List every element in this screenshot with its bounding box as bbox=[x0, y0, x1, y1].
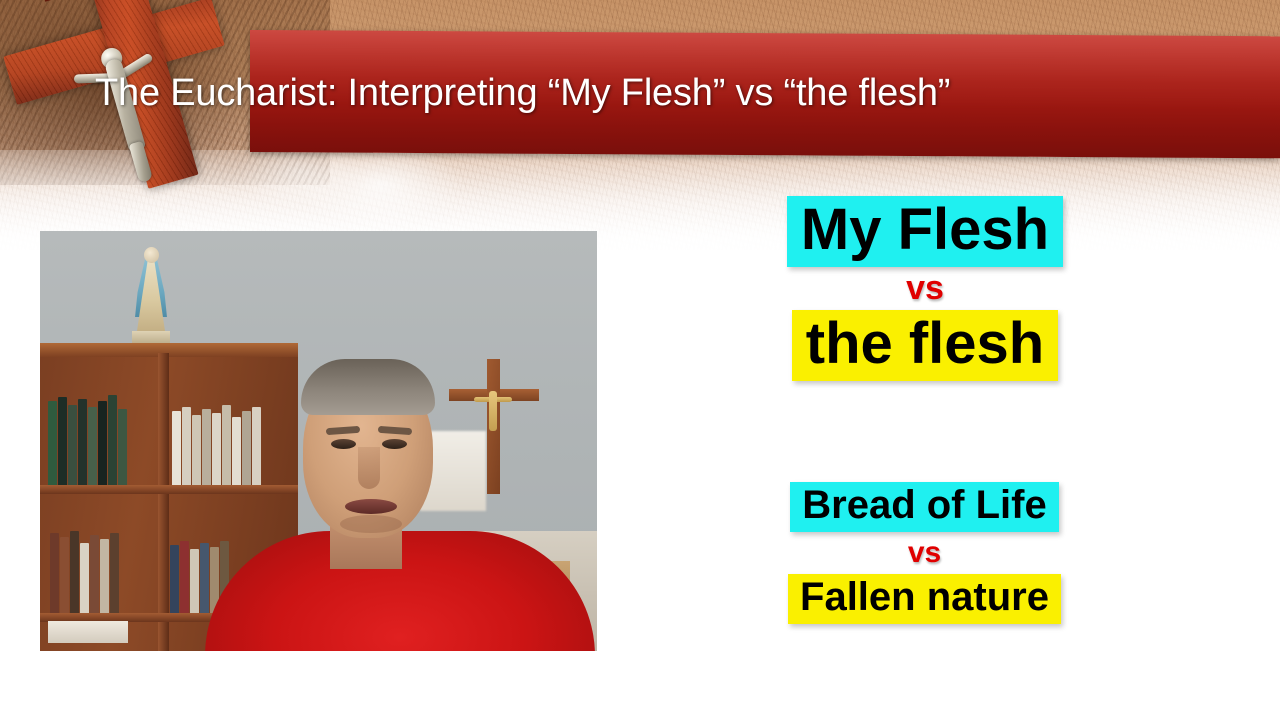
comparison-group-2: Bread of Life vs Fallen nature bbox=[762, 482, 1087, 624]
comparison-2-left-term: Bread of Life bbox=[790, 482, 1058, 532]
speaker-nose bbox=[358, 447, 380, 489]
shelf-papers bbox=[48, 621, 128, 643]
comparison-group-1: My Flesh vs the flesh bbox=[770, 196, 1080, 381]
speaker-eye-right bbox=[382, 439, 407, 449]
book-row-lower-left bbox=[50, 529, 119, 613]
page-title: The Eucharist: Interpreting “My Flesh” v… bbox=[95, 74, 1195, 112]
book-row-upper-right bbox=[172, 405, 261, 485]
speaker-video-panel[interactable] bbox=[40, 231, 597, 651]
bookcase-shelf-mid bbox=[40, 485, 298, 494]
comparison-2-separator: vs bbox=[762, 538, 1087, 568]
book-row-upper-left bbox=[48, 393, 127, 485]
speaker-mouth bbox=[345, 499, 397, 514]
comparison-1-right-term: the flesh bbox=[792, 310, 1059, 381]
bookcase-divider bbox=[158, 353, 169, 651]
comparison-1-left-term: My Flesh bbox=[787, 196, 1063, 267]
speaker-hair bbox=[301, 359, 435, 415]
slide-canvas: The Eucharist: Interpreting “My Flesh” v… bbox=[0, 0, 1280, 720]
comparison-1-separator: vs bbox=[770, 271, 1080, 305]
bookcase-top bbox=[40, 343, 298, 357]
comparison-2-right-term: Fallen nature bbox=[788, 574, 1061, 624]
speaker-chin bbox=[340, 515, 402, 533]
marian-statue-head bbox=[144, 247, 159, 263]
wall-crucifix-corpus-body bbox=[489, 391, 497, 431]
speaker-eye-left bbox=[331, 439, 356, 449]
